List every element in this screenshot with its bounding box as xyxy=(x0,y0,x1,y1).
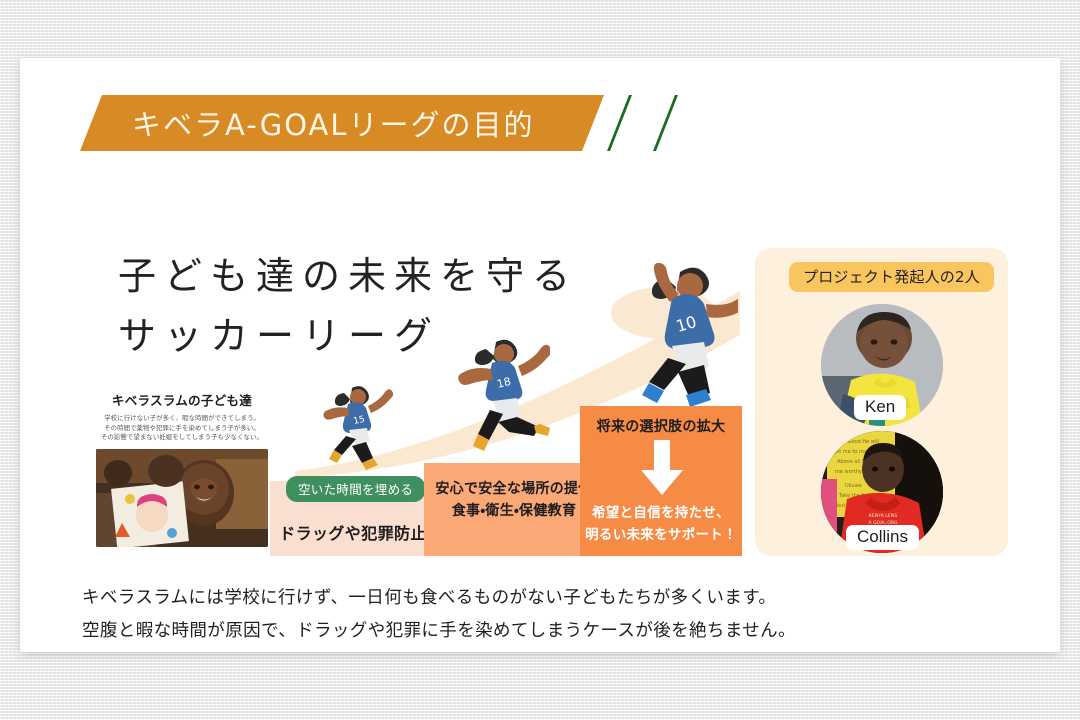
section-header-banner: キベラA-GOALリーグの目的 xyxy=(80,95,604,151)
flow-block-3-title: 将来の選択肢の拡大 xyxy=(580,416,742,436)
soccer-player-2: 18 xyxy=(440,336,550,466)
founders-panel: プロジェクト発起人の2人 Ken xyxy=(755,248,1008,556)
photo-block-title: キベラスラムの子ども達 xyxy=(96,390,268,409)
kibera-children-block: キベラスラムの子ども達 学校に行けない子が多く、暇な時間ができてしまう。 その時… xyxy=(96,390,268,547)
svg-text:I am Good He will: I am Good He will xyxy=(835,439,879,445)
body-paragraph-1: キベラスラムには学校に行けず、一日何も食べるものがない子どもたちが多くいます。 xyxy=(82,582,938,615)
flow-block-2-text: 安心で安全な場所の提供 食事・衛生・保健教育 xyxy=(424,478,604,522)
green-accent-bar-2 xyxy=(653,95,699,151)
body-copy: キベラスラムには学校に行けず、一日何も食べるものがない子どもたちが多くいます。 … xyxy=(82,582,938,652)
svg-text:KENYA LENS: KENYA LENS xyxy=(869,513,897,519)
flow-block-2-line-1: 安心で安全な場所の提供 xyxy=(424,478,604,500)
founders-panel-title: プロジェクト発起人の2人 xyxy=(789,262,994,292)
founder-name-collins: Collins xyxy=(846,525,919,550)
green-accent-bar-1 xyxy=(607,95,653,151)
photo-block-line-2: その時間で薬物や犯罪に手を染めてしまう子が多い。 xyxy=(96,424,268,434)
soccer-player-1: 15 xyxy=(308,380,394,477)
photo-block-line-3: その影響で望まない妊娠をしてしまう子も少なくない。 xyxy=(96,433,268,443)
flow-block-3-line-2: 明るい未来をサポート！ xyxy=(580,524,742,546)
photo-block-line-1: 学校に行けない子が多く、暇な時間ができてしまう。 xyxy=(96,414,268,424)
children-photo xyxy=(96,449,268,547)
soccer-player-3: 10 xyxy=(598,258,738,423)
body-paragraph-3: 週末にサッカーリーグと食事提供を実施することで、我々は子ども達が健やかに成長する… xyxy=(82,648,938,652)
down-arrow-icon xyxy=(640,440,684,501)
body-paragraph-2: 空腹と暇な時間が原因で、ドラッグや犯罪に手を染めてしまうケースが後を絶ちません。 xyxy=(82,615,938,648)
slide-card: キベラA-GOALリーグの目的 子ども達の未来を守る サッカーリーグ 15 xyxy=(20,58,1060,652)
banner-shape: キベラA-GOALリーグの目的 xyxy=(80,95,604,151)
flow-block-3-text: 希望と自信を持たせ、 明るい未来をサポート！ xyxy=(580,502,742,546)
flow-block-3-line-1: 希望と自信を持たせ、 xyxy=(580,502,742,524)
flow-block-1-pill: 空いた時間を埋める xyxy=(286,476,425,502)
banner-title: キベラA-GOALリーグの目的 xyxy=(132,102,535,144)
founder-name-ken: Ken xyxy=(854,395,906,420)
svg-text:Ukuwa: Ukuwa xyxy=(845,483,862,489)
flow-block-2-line-2: 食事・衛生・保健教育 xyxy=(424,500,604,522)
headline-line-1: 子ども達の未来を守る xyxy=(118,246,578,306)
flow-block-1-text: ドラッグや犯罪防止 xyxy=(270,520,436,544)
